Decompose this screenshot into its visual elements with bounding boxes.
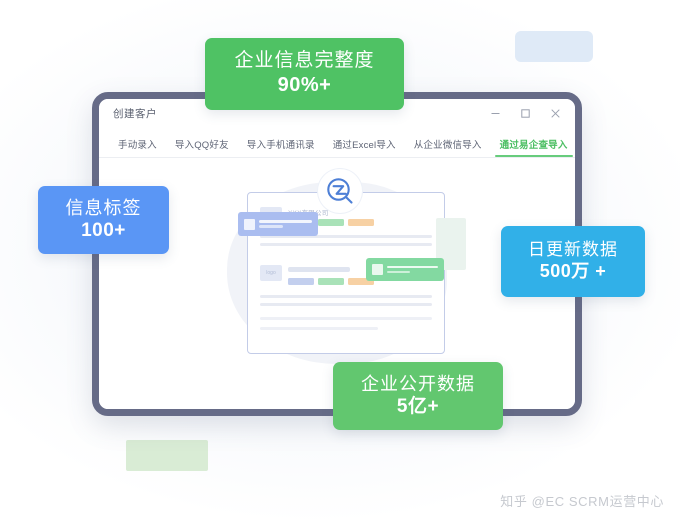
minimize-icon[interactable]	[481, 103, 509, 125]
card-thumb-icon	[372, 264, 383, 275]
placeholder-line	[260, 317, 432, 320]
tag-pill	[288, 278, 314, 285]
stat-badge-title: 信息标签	[66, 198, 142, 219]
watermark: 知乎 @EC SCRM运营中心	[500, 491, 664, 510]
tag-pill	[318, 219, 344, 226]
stat-badge-title: 企业信息完整度	[234, 50, 374, 72]
yiqicha-magnifier-logo-icon	[318, 169, 362, 213]
placeholder-line	[260, 303, 432, 306]
stat-badge-value: 500万 +	[540, 260, 607, 283]
maximize-icon[interactable]	[511, 103, 539, 125]
placeholder-line	[260, 243, 432, 246]
tab-manual-entry[interactable]: 手动录入	[109, 137, 166, 157]
floating-info-card-green	[366, 258, 444, 281]
stat-badge-title: 日更新数据	[528, 240, 618, 260]
decoration-block-bottom-left	[126, 440, 208, 471]
window-controls	[481, 103, 569, 125]
tab-import-excel[interactable]: 通过Excel导入	[324, 137, 405, 157]
stat-badge-tags: 信息标签 100+	[38, 186, 169, 254]
placeholder-line	[260, 295, 432, 298]
placeholder-line	[260, 327, 378, 330]
placeholder-line	[288, 267, 350, 272]
floating-info-card-blue	[238, 212, 318, 236]
stat-badge-value: 100+	[81, 219, 126, 243]
stat-badge-completeness: 企业信息完整度 90%+	[205, 38, 404, 110]
close-icon[interactable]	[541, 103, 569, 125]
decoration-block-top-right	[515, 31, 593, 62]
stat-badge-title: 企业公开数据	[361, 374, 475, 395]
stat-badge-value: 90%+	[278, 73, 332, 98]
tab-bar: 手动录入 导入QQ好友 导入手机通讯录 通过Excel导入 从企业微信导入 通过…	[99, 128, 575, 158]
tab-import-wecom[interactable]: 从企业微信导入	[405, 137, 491, 157]
tag-pill	[318, 278, 344, 285]
card-thumb-icon	[244, 219, 255, 230]
card-lines	[387, 266, 438, 274]
tab-import-qq-friends[interactable]: 导入QQ好友	[166, 137, 238, 157]
tab-import-phone-contacts[interactable]: 导入手机通讯录	[238, 137, 324, 157]
card-lines	[259, 220, 312, 228]
tag-pill	[348, 219, 374, 226]
stat-badge-daily-updates: 日更新数据 500万 +	[501, 226, 645, 297]
tab-import-yiqicha[interactable]: 通过易企查导入	[491, 137, 577, 157]
company-logo-placeholder: logo	[260, 265, 282, 281]
stat-badge-public-data: 企业公开数据 5亿+	[333, 362, 503, 430]
window-title: 创建客户	[113, 106, 157, 121]
stat-badge-value: 5亿+	[397, 395, 439, 419]
canvas-background: 创建客户 手动录入 导入QQ好友 导入手机通讯录 通过Excel导入 从企业微信…	[0, 0, 680, 520]
